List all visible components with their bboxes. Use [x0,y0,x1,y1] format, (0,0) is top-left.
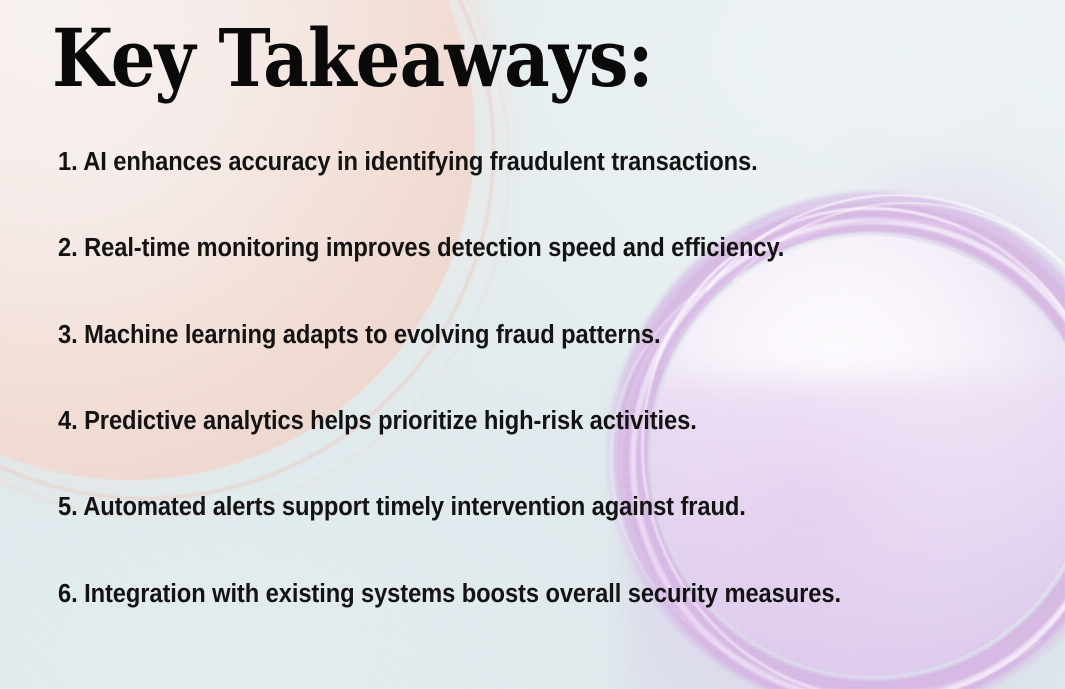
list-item: 2. Real-time monitoring improves detecti… [58,234,914,263]
page-title: Key Takeaways: [52,18,653,98]
list-item: 6. Integration with existing systems boo… [58,580,914,609]
list-item: 4. Predictive analytics helps prioritize… [58,407,914,436]
list-item: 1. AI enhances accuracy in identifying f… [58,148,914,177]
slide-content: Key Takeaways: 1. AI enhances accuracy i… [0,0,1065,689]
slide-canvas: Key Takeaways: 1. AI enhances accuracy i… [0,0,1065,689]
list-item: 3. Machine learning adapts to evolving f… [58,321,914,350]
list-item: 5. Automated alerts support timely inter… [58,493,914,522]
takeaways-list: 1. AI enhances accuracy in identifying f… [58,148,978,609]
